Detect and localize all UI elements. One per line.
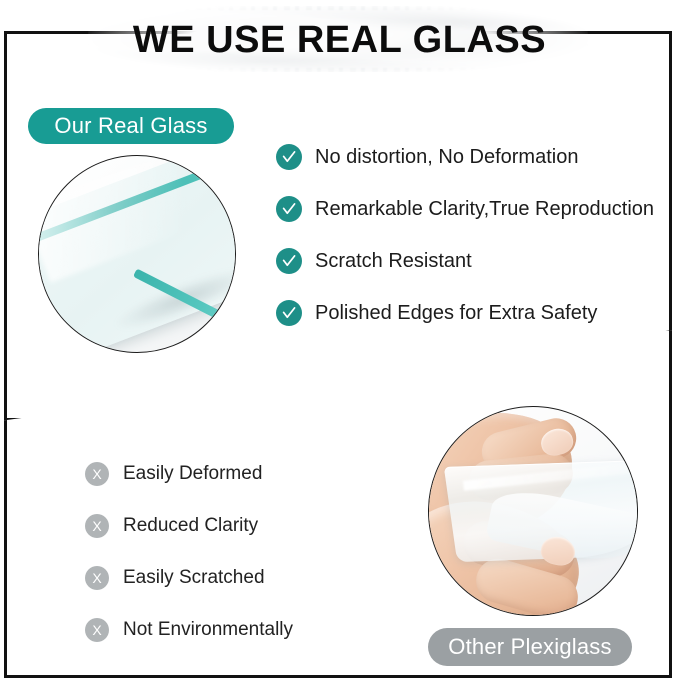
list-item-label: Easily Scratched (123, 567, 265, 589)
title-banner: WE USE REAL GLASS (0, 4, 679, 76)
list-item-label: Scratch Resistant (315, 250, 472, 273)
list-item: Remarkable Clarity,True Reproduction (276, 183, 654, 235)
real-glass-photo (38, 155, 236, 353)
x-circle-icon: X (85, 514, 109, 538)
list-item-label: Reduced Clarity (123, 515, 258, 537)
check-circle-icon (276, 300, 302, 326)
x-circle-icon: X (85, 462, 109, 486)
check-circle-icon (276, 196, 302, 222)
badge-other-plexiglass: Other Plexiglass (428, 628, 632, 666)
list-item: X Reduced Clarity (85, 500, 293, 552)
list-item: Polished Edges for Extra Safety (276, 287, 654, 339)
list-item-label: Remarkable Clarity,True Reproduction (315, 198, 654, 221)
infographic-root: WE USE REAL GLASS Our Real Glass No dist… (0, 0, 679, 691)
check-circle-icon (276, 248, 302, 274)
list-item-label: No distortion, No Deformation (315, 146, 578, 169)
pros-list: No distortion, No Deformation Remarkable… (276, 131, 654, 339)
list-item: Scratch Resistant (276, 235, 654, 287)
list-item-label: Not Environmentally (123, 619, 293, 641)
list-item: X Easily Scratched (85, 552, 293, 604)
list-item: X Easily Deformed (85, 448, 293, 500)
list-item-label: Polished Edges for Extra Safety (315, 302, 597, 325)
list-item: X Not Environmentally (85, 604, 293, 656)
check-circle-icon (276, 144, 302, 170)
cons-list: X Easily Deformed X Reduced Clarity X Ea… (85, 448, 293, 656)
badge-our-real-glass: Our Real Glass (28, 108, 234, 144)
plexiglass-photo (428, 406, 638, 616)
page-title: WE USE REAL GLASS (133, 19, 546, 62)
x-circle-icon: X (85, 566, 109, 590)
list-item-label: Easily Deformed (123, 463, 262, 485)
list-item: No distortion, No Deformation (276, 131, 654, 183)
x-circle-icon: X (85, 618, 109, 642)
